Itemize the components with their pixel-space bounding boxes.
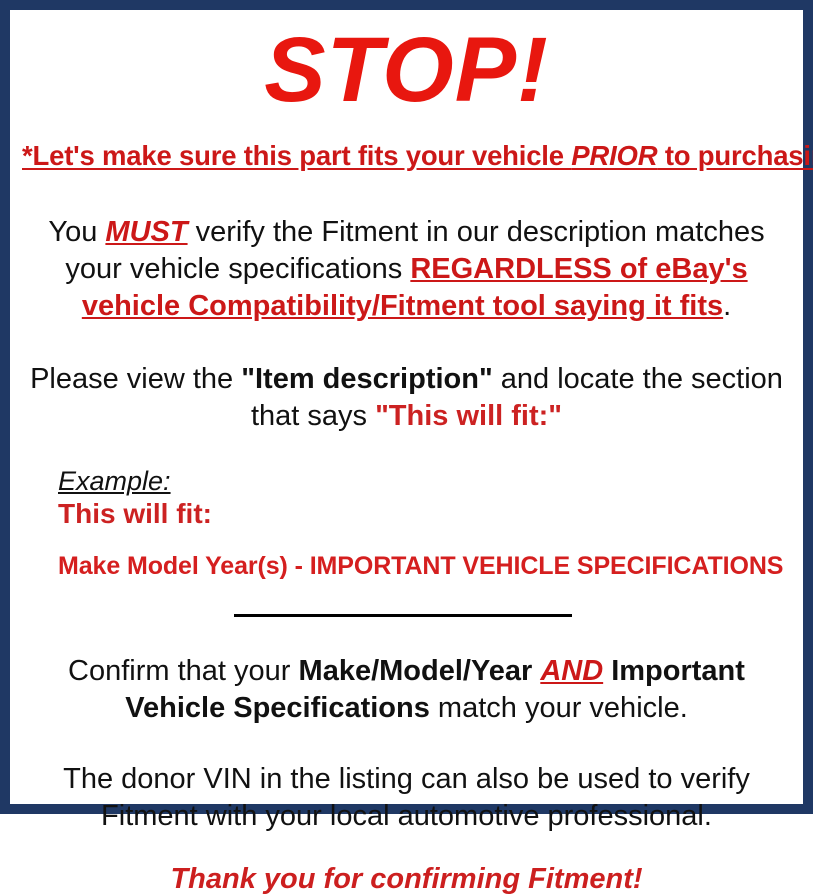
paragraph-must-verify: You MUST verify the Fitment in our descr… xyxy=(22,214,791,325)
make-model-year-emphasis: Make/Model/Year xyxy=(299,655,533,687)
confirm-part1: Confirm that your xyxy=(68,655,298,687)
notice-content: STOP! *Let's make sure this part fits yo… xyxy=(10,10,803,804)
confirm-space-2 xyxy=(603,655,611,687)
example-spec-line: Make Model Year(s) - IMPORTANT VEHICLE S… xyxy=(58,552,791,581)
and-emphasis: AND xyxy=(540,655,603,687)
thank-you-line: Thank you for confirming Fitment! xyxy=(22,863,791,896)
must-part3: . xyxy=(723,290,731,322)
example-label: Example: xyxy=(58,467,791,495)
must-emphasis: MUST xyxy=(105,216,187,248)
fitment-notice-card: STOP! *Let's make sure this part fits yo… xyxy=(0,0,813,814)
example-block: Example: This will fit: Make Model Year(… xyxy=(22,467,791,581)
must-part1: You xyxy=(48,216,105,248)
example-fit-heading: This will fit: xyxy=(58,498,791,530)
item-description-emphasis: "Item description" xyxy=(241,363,492,395)
stop-headline: STOP! xyxy=(22,24,791,118)
subtitle-lead: *Let's make sure this part fits your veh… xyxy=(22,140,571,171)
paragraph-donor-vin: The donor VIN in the listing can also be… xyxy=(22,761,791,835)
section-divider-wrap xyxy=(22,607,791,623)
view-part1: Please view the xyxy=(30,363,241,395)
paragraph-confirm: Confirm that your Make/Model/Year AND Im… xyxy=(22,653,791,727)
subtitle-line: *Let's make sure this part fits your veh… xyxy=(22,140,791,172)
this-will-fit-emphasis: "This will fit:" xyxy=(375,400,562,432)
confirm-part2: match your vehicle. xyxy=(430,692,688,724)
paragraph-view-description: Please view the "Item description" and l… xyxy=(22,361,791,435)
subtitle-emphasis-prior: PRIOR xyxy=(571,140,657,171)
section-divider xyxy=(234,614,572,617)
subtitle-tail: to purchasing* xyxy=(657,140,813,171)
